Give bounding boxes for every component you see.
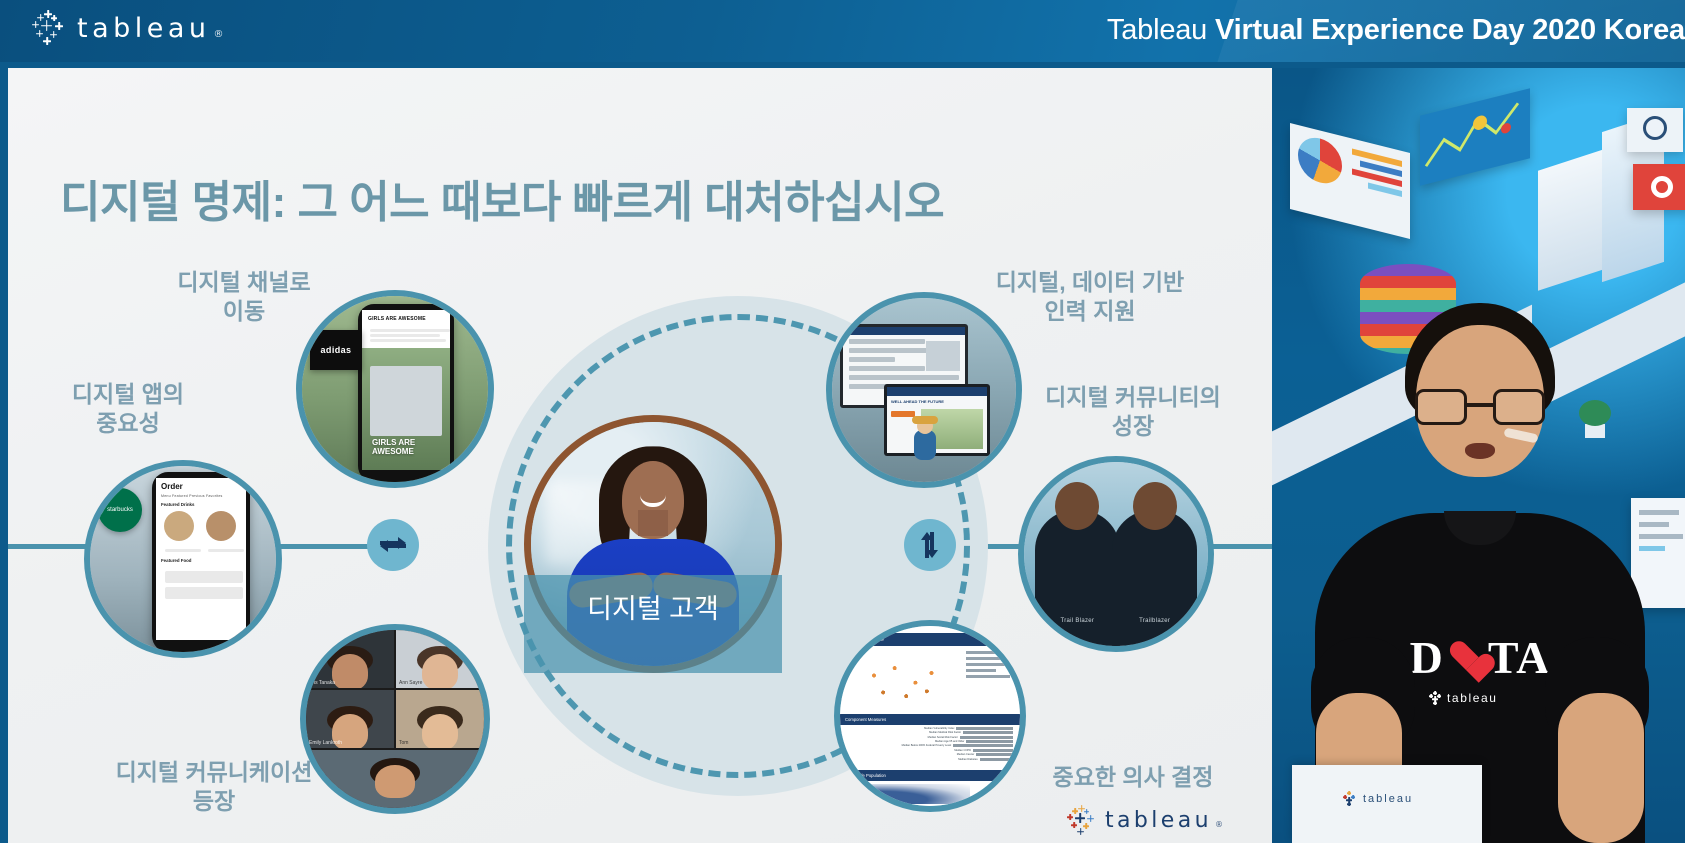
- iso-clock-panel: [1627, 108, 1683, 152]
- video-participant-name: Kris Tanaka: [309, 680, 335, 686]
- adidas-brand-badge: adidas: [310, 330, 362, 370]
- starbucks-screen-heading: Order: [161, 482, 183, 491]
- header-wordmark-trademark: ®: [214, 29, 224, 40]
- starbucks-screen-tabs: Menu Featured Previous Favorites: [161, 494, 223, 498]
- center-label: 디지털 고객: [524, 587, 782, 626]
- shirt-tableau-logo: tableau: [1428, 689, 1498, 707]
- shirt-graphic: D TA: [1388, 631, 1572, 684]
- starbucks-section-1: Featured Drinks: [161, 502, 194, 507]
- shirt-letter-d: D: [1410, 631, 1444, 684]
- iso-chart-panel: [1420, 88, 1530, 185]
- node-community-growth: Trail Blazer Trailblazer: [1018, 456, 1214, 652]
- presenter-mouth: [1465, 443, 1495, 459]
- shirt-wordmark: tableau: [1447, 691, 1498, 705]
- starbucks-brand-badge: starbucks: [98, 488, 142, 532]
- tablet-screen-heading: WELL AHEAD THE FUTURE: [891, 399, 944, 404]
- slide-footer-wordmark: tableau ®: [1105, 808, 1223, 833]
- adidas-screen-overlay: GIRLS ARE AWESOME: [372, 439, 415, 456]
- dashboard-map: [851, 651, 966, 712]
- presentation-stage: tableau ® Tableau Virtual Experience Day…: [0, 0, 1685, 843]
- header-wordmark-text: tableau: [77, 13, 211, 44]
- shirt-text-left: Trail Blazer: [1035, 618, 1120, 624]
- person-left: Trail Blazer: [1035, 510, 1120, 646]
- label-digital-app-importance: 디지털 앱의 중요성: [18, 380, 238, 439]
- presenter-podium: tableau: [1292, 765, 1482, 843]
- event-title-bold: Virtual Experience Day 2020 Korea: [1215, 14, 1685, 46]
- exchange-horizontal-icon: [367, 519, 419, 571]
- dashboard-row-label: Median Diabetes: [847, 758, 977, 761]
- gear-icon: [1651, 176, 1673, 198]
- video-participant: Ann Sayre: [396, 630, 484, 688]
- trailblazer-photo: Trail Blazer Trailblazer: [1024, 462, 1208, 646]
- video-participant: Emily Lankroth: [306, 690, 394, 748]
- label-digital-communication: 디지털 커뮤니케이션 등장: [64, 758, 364, 817]
- starbucks-phone-screen: Order Menu Featured Previous Favorites F…: [156, 478, 246, 640]
- video-participant: Kris Tanaka: [306, 630, 394, 688]
- header-wordmark: tableau ®: [77, 13, 224, 44]
- shirt-text-right: Trailblazer: [1112, 618, 1197, 624]
- adidas-phone-mockup: GIRLS ARE AWESOME GIRLS ARE AWESOME: [358, 304, 454, 482]
- iso-gear-panel: [1633, 164, 1685, 210]
- event-title: Tableau Virtual Experience Day 2020 Kore…: [1107, 14, 1685, 47]
- mascot-figure: [910, 418, 940, 462]
- slide-footer-trademark: ®: [1215, 820, 1223, 829]
- presenter-figure: D TA tableau: [1310, 303, 1650, 843]
- node-digital-app-importance: Order Menu Featured Previous Favorites F…: [84, 460, 282, 658]
- adidas-phone-screen: GIRLS ARE AWESOME GIRLS ARE AWESOME: [362, 310, 450, 470]
- label-data-driven-workforce: 디지털, 데이터 기반 인력 지원: [940, 268, 1240, 327]
- podium-tableau-logo: tableau: [1341, 791, 1413, 807]
- video-participant-name: Ann Sayre: [399, 680, 422, 686]
- dashboard-row-label: Median COPD: [847, 749, 971, 752]
- tableau-logo-icon: [30, 10, 66, 46]
- adidas-screen-heading: GIRLS ARE AWESOME: [368, 316, 426, 322]
- dashboard-row-label: Median Below 200% Federal Poverty Level: [847, 744, 951, 747]
- event-title-light: Tableau: [1107, 14, 1215, 46]
- exchange-vertical-icon: [904, 519, 956, 571]
- label-critical-decision-making: 중요한 의사 결정: [1008, 763, 1258, 792]
- dashboard-row-label: Median Vulnerability Index: [847, 727, 954, 730]
- header-bar: tableau ® Tableau Virtual Experience Day…: [0, 0, 1685, 62]
- slide-title: 디지털 명제: 그 어느 때보다 빠르게 대처하십시오: [60, 166, 944, 230]
- iso-laptop: [1290, 123, 1410, 239]
- label-community-growth: 디지털 커뮤니티의 성장: [988, 383, 1272, 442]
- video-participant: Tom: [396, 690, 484, 748]
- dashboard-section-2: Component Measures: [840, 714, 1020, 725]
- header-tableau-logo: tableau ®: [30, 10, 224, 46]
- label-digital-channel-shift: 디지털 채널로 이동: [114, 268, 374, 327]
- tableau-logo-color-icon: [1066, 805, 1096, 835]
- starbucks-badge-label: starbucks: [107, 507, 133, 513]
- person-right: Trailblazer: [1112, 510, 1197, 646]
- video-participant-name: Tom: [399, 740, 408, 746]
- slide-canvas: 디지털 명제: 그 어느 때보다 빠르게 대처하십시오 디지털 고객: [8, 68, 1272, 843]
- covid-dashboard: Summary Measure Component Measures Media…: [840, 626, 1020, 806]
- iso-tower-1: [1538, 149, 1604, 290]
- heart-icon: [1449, 642, 1483, 674]
- presenter-arm-right: [1558, 693, 1644, 843]
- dashboard-section-1: Summary Measure: [840, 633, 1020, 646]
- node-critical-decision-making: Summary Measure Component Measures Media…: [834, 620, 1026, 812]
- glasses-icon: [1415, 389, 1545, 425]
- dashboard-row-label: Median Age 65 and Older: [847, 740, 964, 743]
- shirt-letters-ta: TA: [1488, 631, 1551, 684]
- slide-footer-logo: tableau ®: [1066, 805, 1223, 835]
- podium-wordmark: tableau: [1363, 793, 1413, 805]
- dashboard-row-label: Median Social Risk Factor: [847, 736, 958, 739]
- slide-footer-wordmark-text: tableau: [1105, 808, 1212, 833]
- dashboard-row-label: Median Medical Risk Factor: [847, 731, 961, 734]
- video-participant-name: Emily Lankroth: [309, 740, 342, 746]
- starbucks-phone-mockup: Order Menu Featured Previous Favorites F…: [152, 472, 250, 652]
- dashboard-row-label: Median Cancer: [847, 753, 974, 756]
- dashboard-section-3: Vulnerable Population: [840, 770, 1020, 781]
- adidas-badge-label: adidas: [321, 345, 352, 355]
- clock-icon: [1643, 116, 1667, 140]
- presenter-video-panel[interactable]: D TA tableau: [1272, 68, 1685, 843]
- starbucks-section-2: Featured Food: [161, 558, 192, 563]
